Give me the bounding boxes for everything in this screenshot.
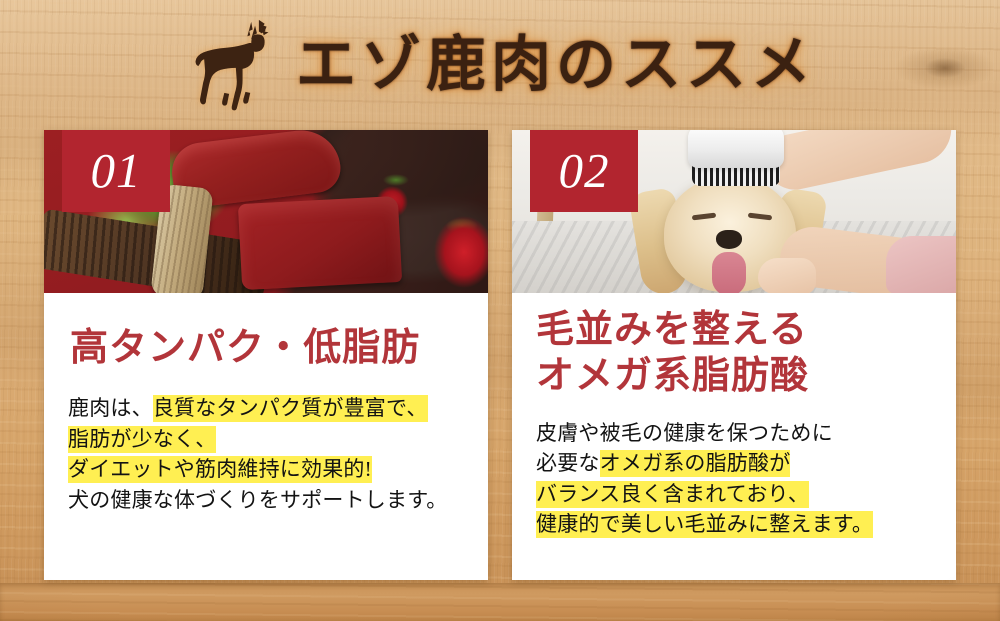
card-description-line: 犬の健康な体づくりをサポートします。 [68,485,466,515]
cards-container: 01 高タンパク・低脂肪 鹿肉は、良質なタンパク質が豊富で、脂肪が少なく、ダイエ… [44,130,956,580]
groomer-hand [758,258,816,293]
pink-cloth-decor [886,236,956,293]
card-body-02: 毛並みを整える オメガ系脂肪酸 皮膚や被毛の健康を保つために必要なオメガ系の脂肪… [512,293,956,580]
page-title: エゾ鹿肉のススメ [296,35,816,95]
highlighted-text: 健康的で美しい毛並みに整えます。 [536,511,873,538]
plain-text: 必要な [536,451,600,475]
card-badge-number: 01 [62,130,170,212]
plain-text: 皮膚や被毛の健康を保つために [536,421,833,445]
plain-text: 犬の健康な体づくりをサポートします。 [68,488,448,512]
highlighted-text: オメガ系の脂肪酸が [600,450,791,477]
card-description-line: バランス良く含まれており、 [536,479,934,509]
card-description: 皮膚や被毛の健康を保つために必要なオメガ系の脂肪酸がバランス良く含まれており、健… [534,418,934,540]
wood-bottom-plank [0,583,1000,621]
dog-nose [716,230,742,249]
deer-silhouette-icon [184,18,280,114]
grooming-brush-icon [688,130,784,168]
plain-text: 鹿肉は、 [68,396,153,420]
dog-tongue [712,252,746,293]
card-heading: 毛並みを整える オメガ系脂肪酸 [534,307,934,400]
highlighted-text: ダイエットや筋肉維持に効果的! [68,456,372,483]
card-description-line: 必要なオメガ系の脂肪酸が [536,448,934,478]
highlighted-text: 脂肪が少なく、 [68,426,216,453]
highlighted-text: 良質なタンパク質が豊富で、 [153,395,428,422]
venison-cut-front [238,196,402,290]
poster-root: エゾ鹿肉のススメ 01 高タンパク・低脂肪 鹿肉は、良質なタンパク質が豊富で、脂… [0,0,1000,621]
card-heading: 高タンパク・低脂肪 [66,325,466,371]
highlighted-text: バランス良く含まれており、 [536,481,809,508]
poster-header: エゾ鹿肉のススメ [0,10,1000,120]
card-description-line: 脂肪が少なく、 [68,424,466,454]
groomer-arm-upper [760,130,956,195]
card-description-line: 皮膚や被毛の健康を保つために [536,418,934,448]
card-description-line: 健康的で美しい毛並みに整えます。 [536,509,934,539]
card-description-line: 鹿肉は、良質なタンパク質が豊富で、 [68,393,466,423]
card-body-01: 高タンパク・低脂肪 鹿肉は、良質なタンパク質が豊富で、脂肪が少なく、ダイエットや… [44,293,488,580]
card-description: 鹿肉は、良質なタンパク質が豊富で、脂肪が少なく、ダイエットや筋肉維持に効果的!犬… [66,393,466,515]
card-description-line: ダイエットや筋肉維持に効果的! [68,454,466,484]
card-badge-number: 02 [530,130,638,212]
feature-card-02: 02 毛並みを整える オメガ系脂肪酸 皮膚や被毛の健康を保つために必要なオメガ系… [512,130,956,580]
card-photo-dog: 02 [512,130,956,293]
feature-card-01: 01 高タンパク・低脂肪 鹿肉は、良質なタンパク質が豊富で、脂肪が少なく、ダイエ… [44,130,488,580]
card-photo-venison: 01 [44,130,488,293]
